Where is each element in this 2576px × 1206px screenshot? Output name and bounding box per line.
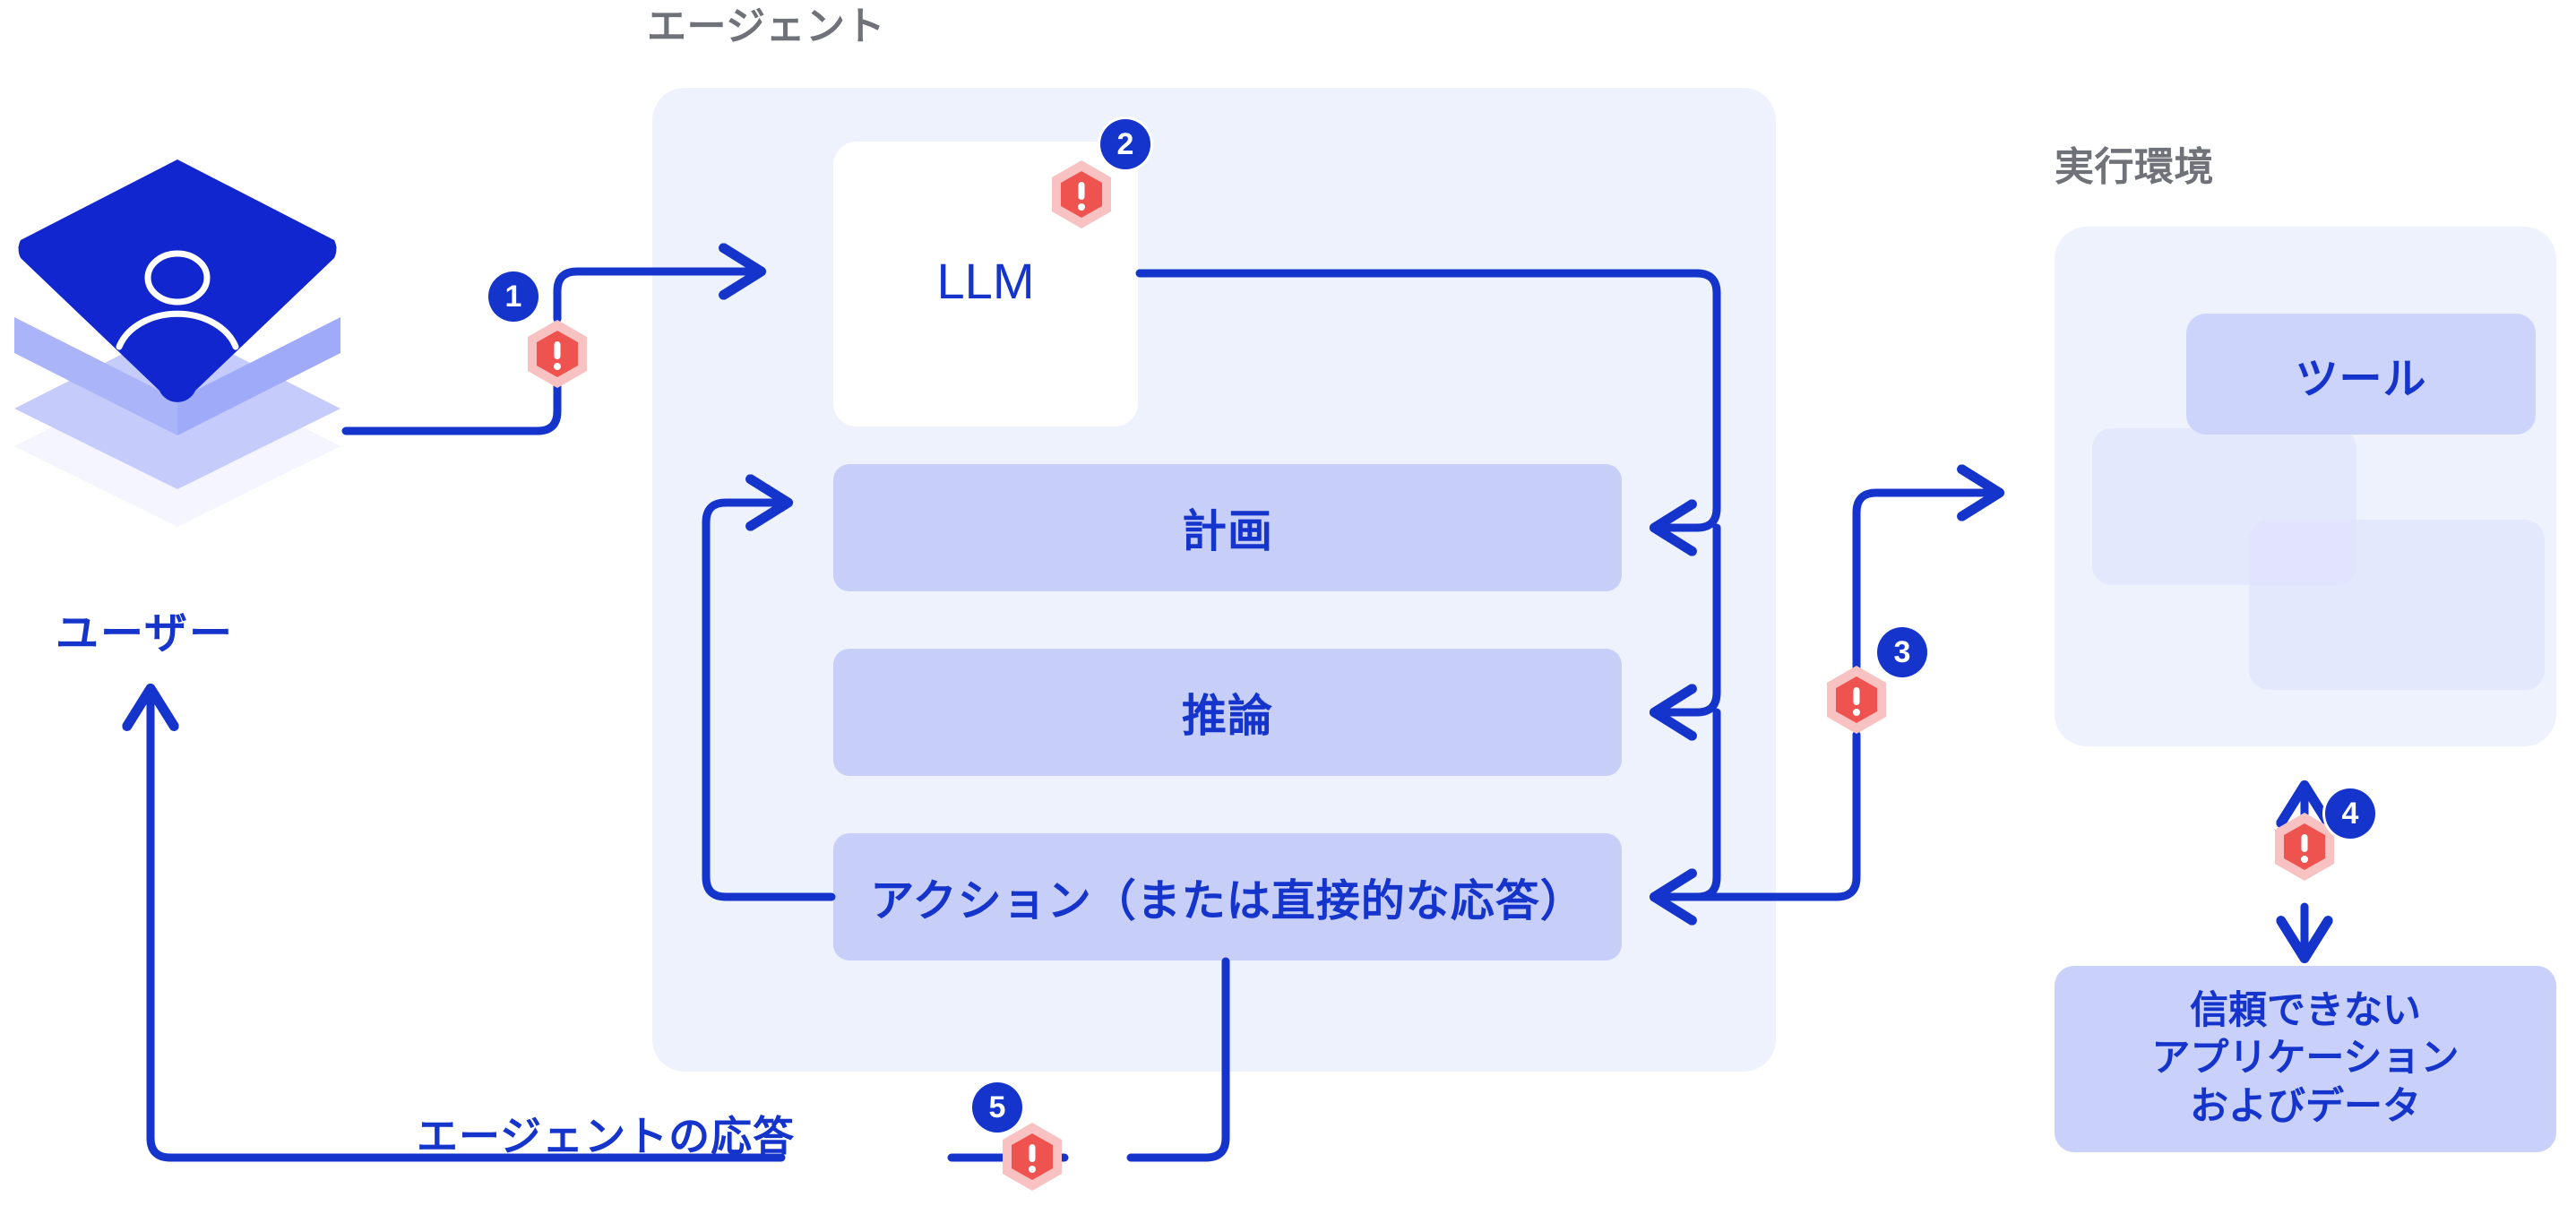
step-badge-3: 3 — [1877, 627, 1927, 677]
diagram-canvas: エージェント 実行環境 ユーザー LLM — [0, 0, 2576, 1206]
user-cube-svg — [7, 151, 348, 527]
tool-box: ツール — [2186, 314, 2536, 435]
step-badge-5: 5 — [972, 1082, 1022, 1133]
warning-icon-3 — [1825, 665, 1888, 735]
user-cube-icon — [7, 151, 348, 527]
stage-box-action: アクション（または直接的な応答） — [833, 833, 1622, 960]
step-badge-2: 2 — [1100, 119, 1150, 169]
stage-box-plan: 計画 — [833, 464, 1622, 591]
untrusted-line-3: およびデータ — [2190, 1083, 2421, 1131]
llm-label: LLM — [833, 252, 1138, 310]
tool-ghost-card-2 — [2249, 520, 2545, 690]
untrusted-line-2: アプリケーション — [2151, 1035, 2459, 1082]
agent-response-label: エージェントの応答 — [417, 1104, 795, 1163]
step-badge-4: 4 — [2325, 788, 2375, 839]
stage-label-reasoning: 推論 — [1182, 680, 1273, 745]
stage-box-reasoning: 推論 — [833, 649, 1622, 776]
warning-icon-2 — [1050, 159, 1113, 229]
step-badge-1: 1 — [488, 271, 538, 322]
warning-icon-1 — [526, 319, 589, 389]
tool-label: ツール — [2295, 343, 2426, 406]
warning-icon-5 — [1001, 1122, 1064, 1192]
agent-section-title: エージェント — [647, 0, 885, 51]
stage-label-plan: 計画 — [1182, 495, 1273, 560]
stage-label-action: アクション（または直接的な応答） — [870, 866, 1585, 929]
untrusted-app-data-box: 信頼できない アプリケーション およびデータ — [2055, 966, 2556, 1152]
execution-environment-section-title: 実行環境 — [2055, 134, 2214, 192]
untrusted-line-1: 信頼できない — [2190, 987, 2421, 1035]
user-label: ユーザー — [56, 598, 234, 660]
